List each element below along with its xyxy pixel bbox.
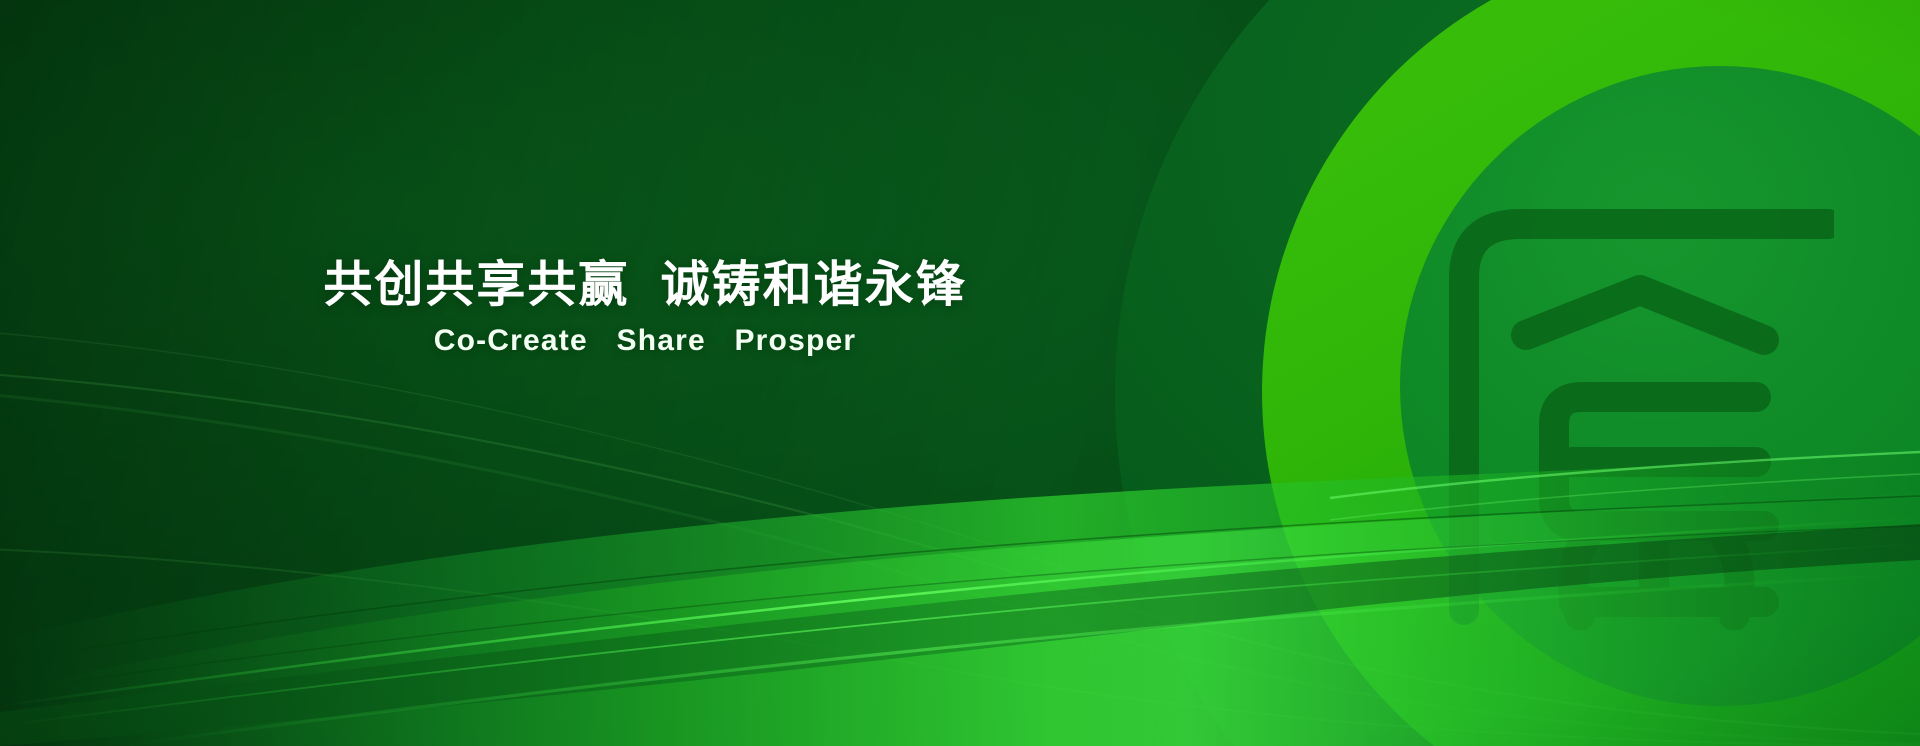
banner-stage: 共创共享共赢 诚铸和谐永锋 Co-Create Share Prosper <box>0 0 1920 746</box>
banner-subline: Co-Create Share Prosper <box>0 324 1290 358</box>
banner-copy: 共创共享共赢 诚铸和谐永锋 Co-Create Share Prosper <box>0 258 1290 358</box>
banner-headline: 共创共享共赢 诚铸和谐永锋 <box>0 258 1290 313</box>
